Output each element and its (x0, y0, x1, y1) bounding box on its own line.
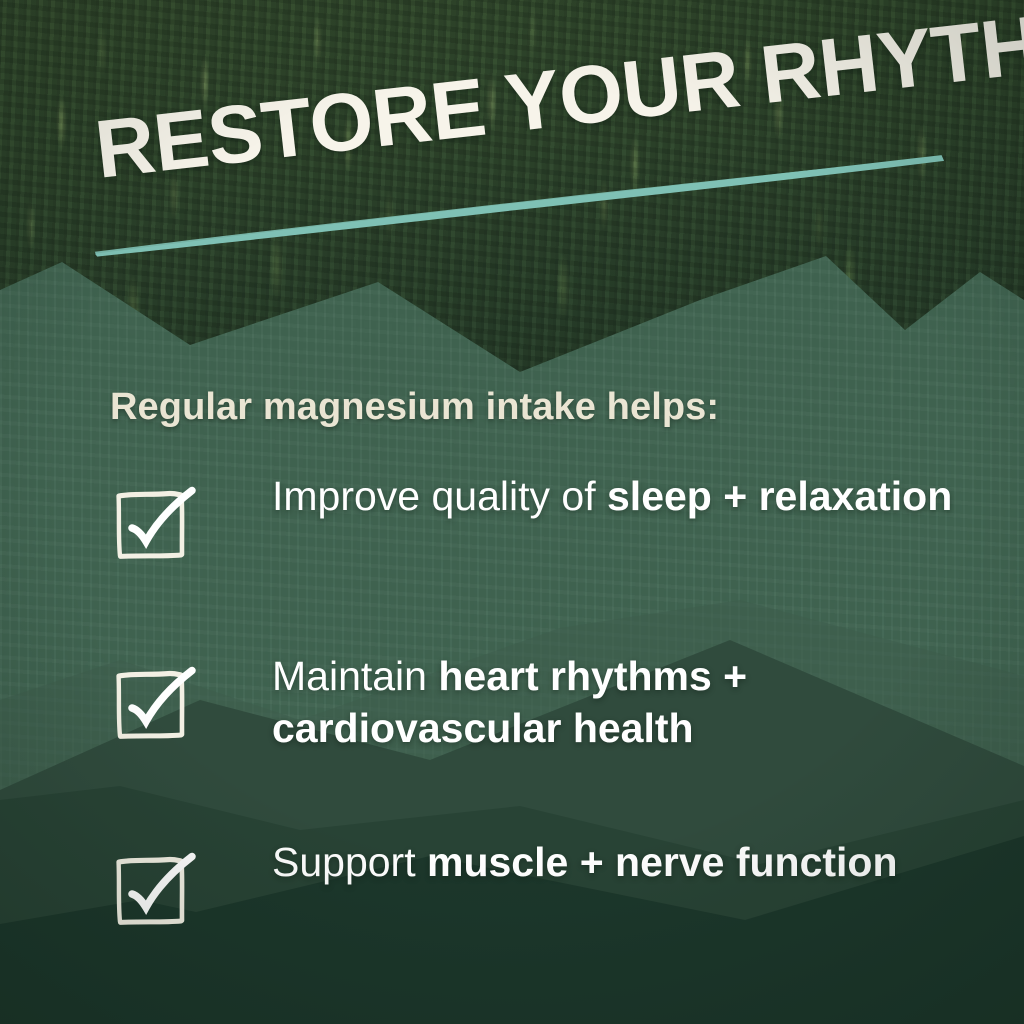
benefit-item: Improve quality of sleep + relaxation (110, 470, 970, 570)
checkbox-cell (110, 650, 272, 750)
benefit-emphasis-text: muscle + nerve function (427, 839, 898, 885)
benefit-item: Support muscle + nerve function (110, 836, 970, 936)
benefit-text: Support muscle + nerve function (272, 836, 970, 888)
benefit-item: Maintain heart rhythms + cardiovascular … (110, 650, 970, 755)
benefit-text: Improve quality of sleep + relaxation (272, 470, 970, 522)
benefit-lead-text: Support (272, 839, 427, 885)
checkbox-cell (110, 836, 272, 936)
checkbox-cell (110, 470, 272, 570)
benefit-text: Maintain heart rhythms + cardiovascular … (272, 650, 970, 755)
promo-poster: RESTORE YOUR RHYTHM. Regular magnesium i… (0, 0, 1024, 1024)
checked-checkbox-icon (110, 850, 196, 936)
content-area: Regular magnesium intake helps: Improve … (0, 0, 1024, 1024)
checked-checkbox-icon (110, 484, 196, 570)
section-title: Regular magnesium intake helps: (110, 386, 719, 429)
benefit-lead-text: Improve quality of (272, 473, 607, 519)
checked-checkbox-icon (110, 664, 196, 750)
benefit-lead-text: Maintain (272, 653, 438, 699)
benefit-emphasis-text: sleep + relaxation (607, 473, 952, 519)
